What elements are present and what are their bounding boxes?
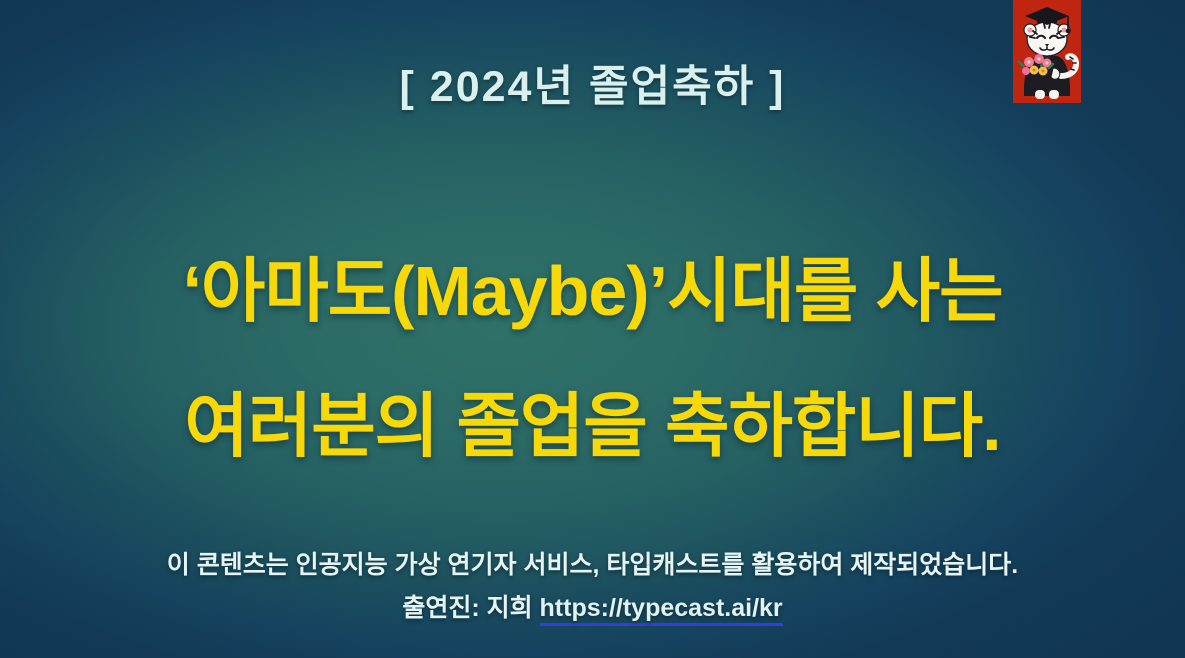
tiger-mascot-icon (1013, 0, 1081, 103)
footer-cast-label: 출연진: 지희 (402, 594, 539, 622)
graduating-tiger-mascot-logo (1013, 0, 1081, 103)
footer-credit: 출연진: 지희 https://typecast.ai/kr (0, 588, 1185, 624)
presentation-slide: [ 2024년 졸업축하 ] ‘아마도(Maybe)’시대를 사는 여러분의 졸… (0, 0, 1185, 658)
typecast-url-link[interactable]: https://typecast.ai/kr (540, 594, 783, 626)
slide-title: [ 2024년 졸업축하 ] (0, 52, 1185, 114)
footer-disclaimer: 이 콘텐츠는 인공지능 가상 연기자 서비스, 타입캐스트를 활용하여 제작되었… (0, 545, 1185, 581)
headline-line-2: 여러분의 졸업을 축하합니다. (0, 370, 1185, 471)
headline-line-1: ‘아마도(Maybe)’시대를 사는 (0, 235, 1185, 336)
